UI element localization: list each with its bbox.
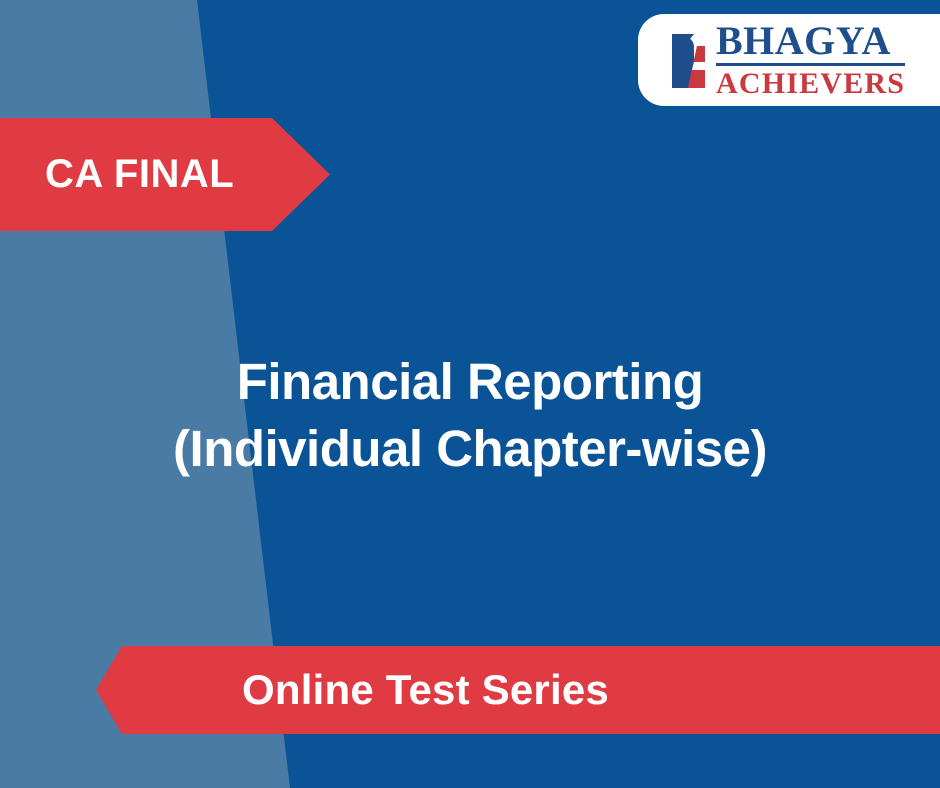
bhagya-achievers-monogram-icon	[664, 32, 716, 90]
brand-wordmark: BHAGYA ACHIEVERS	[716, 21, 905, 99]
page-title: Financial Reporting (Individual Chapter-…	[0, 348, 940, 483]
title-line-2: (Individual Chapter-wise)	[40, 415, 900, 482]
brand-name-secondary: ACHIEVERS	[716, 66, 905, 99]
promo-poster: BHAGYA ACHIEVERS CA FINAL Financial Repo…	[0, 0, 940, 788]
title-line-1: Financial Reporting	[40, 348, 900, 415]
brand-logo[interactable]: BHAGYA ACHIEVERS	[638, 14, 940, 106]
offering-ribbon: Online Test Series	[96, 646, 940, 734]
brand-name-primary: BHAGYA	[716, 21, 905, 66]
course-level-banner: CA FINAL	[0, 118, 330, 231]
course-level-label: CA FINAL	[0, 152, 234, 197]
offering-label: Online Test Series	[96, 666, 609, 714]
